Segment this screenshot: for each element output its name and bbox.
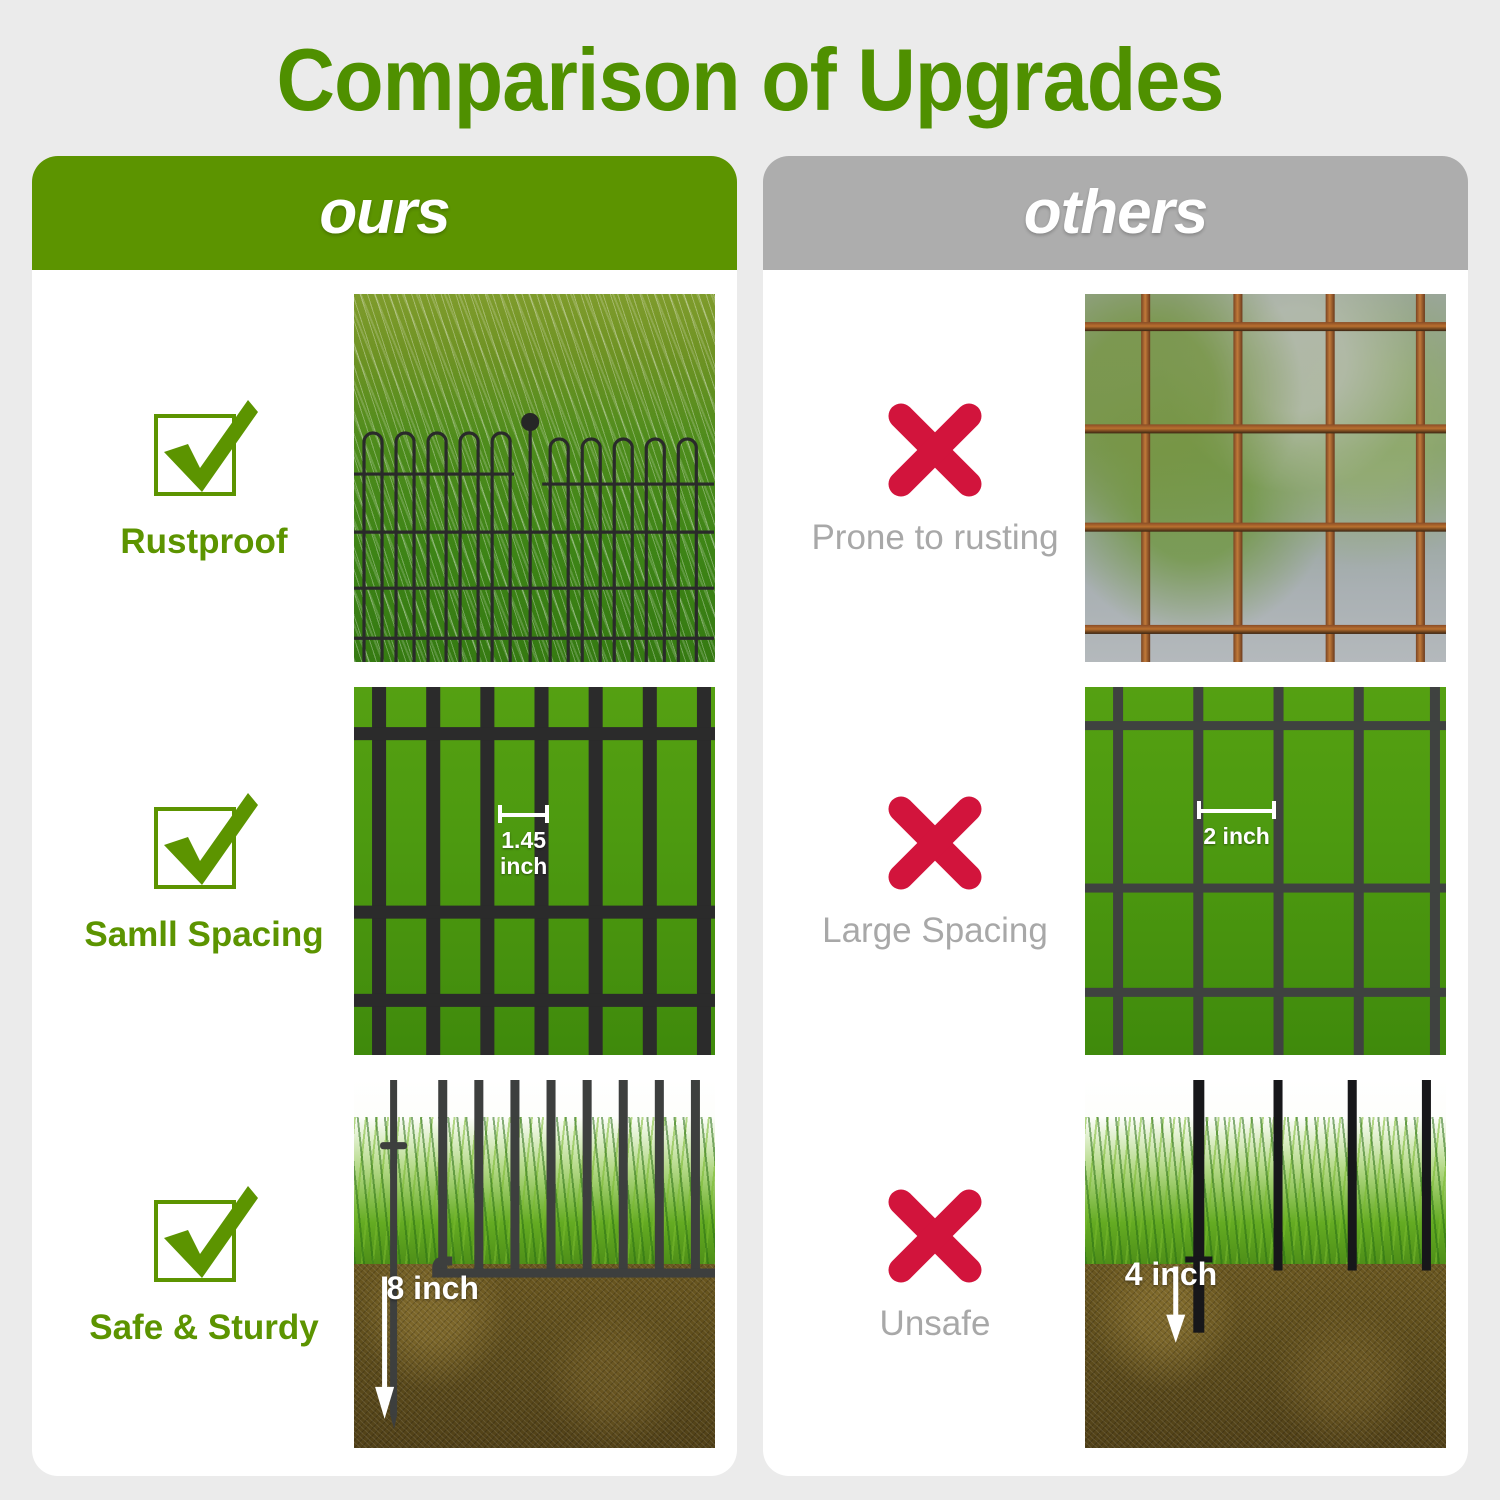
row-rustproof-label-group: Rustproof xyxy=(54,394,354,562)
row-prone-to-rusting-label-group: Prone to rusting xyxy=(785,398,1085,558)
cross-x-icon xyxy=(881,1184,989,1288)
depth-arrow-down-icon xyxy=(354,1080,715,1448)
row-large-spacing: Large Spacing xyxy=(785,685,1446,1057)
column-body-ours: Rustproof xyxy=(32,270,737,1476)
column-header-ours: ours xyxy=(32,156,737,270)
dimension-cap-right xyxy=(545,805,549,823)
column-header-others-label: others xyxy=(1024,182,1207,244)
dimension-1-45-inch: 1.45 inch xyxy=(498,805,549,879)
row-rustproof: Rustproof xyxy=(54,292,715,664)
comparison-columns: ours Rustproof xyxy=(0,156,1500,1476)
dimension-bar xyxy=(1197,801,1276,819)
row-large-spacing-label: Large Spacing xyxy=(822,911,1048,951)
dimension-value: 1.45 xyxy=(501,827,546,853)
shallow-stake-soil-photo: 4 inch xyxy=(1085,1080,1446,1448)
column-others: others Prone to rusting xyxy=(763,156,1468,1476)
dimension-cap-left xyxy=(1197,801,1201,819)
row-prone-to-rusting-label: Prone to rusting xyxy=(811,518,1058,558)
check-box-icon xyxy=(144,394,264,506)
cross-x-icon xyxy=(881,398,989,502)
rainy-black-fence-photo xyxy=(354,294,715,662)
row-safe-sturdy-label: Safe & Sturdy xyxy=(89,1308,319,1348)
black-arched-fence-graphic xyxy=(354,412,714,662)
cross-x-icon xyxy=(881,791,989,895)
row-safe-sturdy-label-group: Safe & Sturdy xyxy=(54,1180,354,1348)
wide-picket-grid-graphic xyxy=(1085,687,1446,1055)
row-small-spacing-label: Samll Spacing xyxy=(84,915,323,955)
wide-spacing-fence-photo: 2 inch xyxy=(1085,687,1446,1055)
dimension-bar xyxy=(498,805,549,823)
row-unsafe-label: Unsafe xyxy=(880,1304,991,1344)
dimension-cap-right xyxy=(1272,801,1276,819)
row-rustproof-label: Rustproof xyxy=(120,522,287,562)
narrow-spacing-fence-photo: 1.45 inch xyxy=(354,687,715,1055)
dimension-cap-left xyxy=(498,805,502,823)
dimension-2-inch: 2 inch xyxy=(1197,801,1276,849)
depth-arrow-down-icon xyxy=(1085,1080,1446,1448)
row-large-spacing-label-group: Large Spacing xyxy=(785,791,1085,951)
row-small-spacing-label-group: Samll Spacing xyxy=(54,787,354,955)
deep-stake-soil-photo: 8 inch xyxy=(354,1080,715,1448)
dimension-value: 2 inch xyxy=(1203,823,1269,849)
row-unsafe-label-group: Unsafe xyxy=(785,1184,1085,1344)
rusty-mesh-grid-graphic xyxy=(1085,294,1446,662)
rusty-wire-mesh-photo xyxy=(1085,294,1446,662)
row-small-spacing: Samll Spacing xyxy=(54,685,715,1057)
page-title: Comparison of Upgrades xyxy=(60,28,1440,132)
column-ours: ours Rustproof xyxy=(32,156,737,1476)
column-header-others: others xyxy=(763,156,1468,270)
check-box-icon xyxy=(144,1180,264,1292)
column-body-others: Prone to rusting xyxy=(763,270,1468,1476)
dimension-unit: inch xyxy=(500,853,547,879)
row-unsafe: Unsafe xyxy=(785,1078,1446,1450)
row-prone-to-rusting: Prone to rusting xyxy=(785,292,1446,664)
row-safe-sturdy: Safe & Sturdy xyxy=(54,1078,715,1450)
column-header-ours-label: ours xyxy=(319,182,449,244)
check-box-icon xyxy=(144,787,264,899)
